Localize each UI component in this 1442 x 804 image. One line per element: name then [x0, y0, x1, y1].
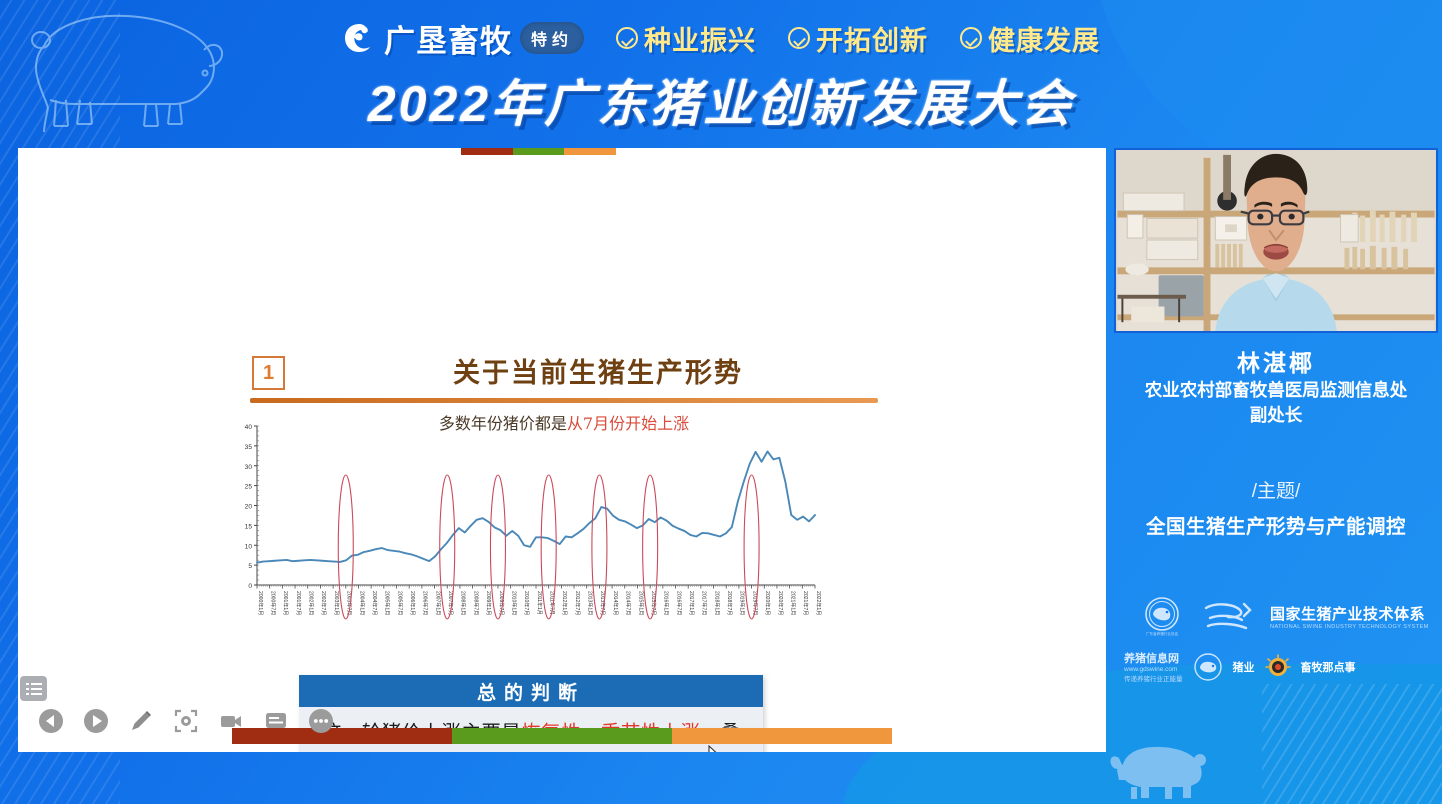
- pig-circle-icon: [1193, 652, 1223, 682]
- laser-pointer-button[interactable]: [173, 708, 199, 734]
- svg-text:2017年7月: 2017年7月: [701, 591, 708, 615]
- svg-text:2002年1月: 2002年1月: [308, 591, 315, 615]
- check-circle-icon: [960, 27, 982, 49]
- svg-text:2021年7月: 2021年7月: [802, 591, 809, 615]
- svg-text:2021年1月: 2021年1月: [789, 591, 796, 615]
- svg-text:2017年1月: 2017年1月: [688, 591, 695, 615]
- sponsor-badge: 特约: [520, 22, 584, 54]
- svg-text:40: 40: [245, 424, 253, 431]
- section-number: 1: [263, 362, 274, 385]
- title-underline-rule: [250, 398, 878, 403]
- gdswine-logo: 养猪信息网 www.gdswine.com 传递养猪行业正能量: [1124, 650, 1183, 683]
- speaker-name: 林湛椰: [1110, 344, 1442, 378]
- pencil-icon: [128, 708, 154, 734]
- play-button[interactable]: [83, 708, 109, 734]
- svg-text:35: 35: [245, 444, 253, 451]
- previous-icon: [38, 708, 64, 734]
- svg-text:2009年1月: 2009年1月: [485, 591, 492, 615]
- chart-canvas: 05101520253035402000年1月2000年7月2001年1月200…: [223, 420, 823, 645]
- annotate-button[interactable]: [128, 708, 154, 734]
- speaker-panel: 林湛椰 农业农村部畜牧兽医局监测信息处 副处长 /主题/ 全国生猪生产形势与产能…: [1110, 146, 1442, 754]
- speaker-topic: 全国生猪生产形势与产能调控: [1110, 510, 1442, 539]
- list-icon: [26, 682, 42, 696]
- svg-text:2022年1月: 2022年1月: [815, 591, 822, 615]
- brand-logo-group: 广垦畜牧 特约: [342, 16, 584, 61]
- svg-text:2004年1月: 2004年1月: [358, 591, 365, 615]
- webcam-video-frame: [1116, 150, 1436, 331]
- svg-text:30: 30: [245, 464, 253, 471]
- svg-text:2002年7月: 2002年7月: [320, 591, 327, 615]
- svg-text:2003年1月: 2003年1月: [333, 591, 340, 615]
- sponsor-main-en: NATIONAL SWINE INDUSTRY TECHNOLOGY SYSTE…: [1270, 624, 1429, 630]
- slide-section-title: 关于当前生猪生产形势: [318, 351, 878, 390]
- sponsor-row-1: 广东省养猪行业协会 国家生猪产业技术体系 NATIONAL SWINE INDU…: [1140, 594, 1434, 638]
- svg-text:2005年1月: 2005年1月: [384, 591, 391, 615]
- notes-icon: [263, 708, 289, 734]
- laser-icon: [173, 708, 199, 734]
- svg-text:2001年1月: 2001年1月: [282, 591, 289, 615]
- conclusion-heading: 总的判断: [299, 675, 763, 707]
- svg-text:2006年1月: 2006年1月: [409, 591, 416, 615]
- svg-text:2016年7月: 2016年7月: [675, 591, 682, 615]
- svg-text:2012年7月: 2012年7月: [574, 591, 581, 615]
- play-icon: [83, 708, 109, 734]
- svg-text:2012年1月: 2012年1月: [561, 591, 568, 615]
- brand-name: 广垦畜牧: [384, 16, 512, 61]
- slogan-2: 开拓创新: [788, 19, 928, 58]
- svg-text:2010年7月: 2010年7月: [523, 591, 530, 615]
- svg-text:2001年7月: 2001年7月: [295, 591, 302, 615]
- svg-text:25: 25: [245, 484, 253, 491]
- svg-text:10: 10: [245, 543, 253, 550]
- svg-text:2008年7月: 2008年7月: [472, 591, 479, 615]
- guangken-logo-icon: [342, 21, 376, 55]
- event-main-title: 2022年广东猪业创新发展大会: [0, 64, 1442, 136]
- svg-text:2011年1月: 2011年1月: [536, 591, 543, 615]
- header-brand-row: 广垦畜牧 特约 种业振兴 开拓创新 健康发展: [0, 16, 1442, 60]
- svg-text:2020年1月: 2020年1月: [764, 591, 771, 615]
- svg-text:2000年7月: 2000年7月: [269, 591, 276, 615]
- slogan-1: 种业振兴: [616, 19, 756, 58]
- svg-text:2014年7月: 2014年7月: [625, 591, 632, 615]
- speaker-org-line2: 副处长: [1110, 403, 1442, 428]
- assoc-caption: 广东省养猪行业协会: [1146, 631, 1179, 636]
- check-circle-icon: [788, 27, 810, 49]
- pig-price-line-chart: 05101520253035402000年1月2000年7月2001年1月200…: [223, 420, 823, 645]
- playlist-button[interactable]: [20, 676, 47, 701]
- svg-text:2006年7月: 2006年7月: [422, 591, 429, 615]
- topic-label: /主题/: [1110, 476, 1442, 503]
- previous-button[interactable]: [38, 708, 64, 734]
- presentation-slide[interactable]: 1 关于当前生猪生产形势 多数年份猪价都是从7月份开始上涨 0510152025…: [18, 148, 1106, 752]
- slogan-3-label: 健康发展: [988, 19, 1100, 58]
- event-header: 广垦畜牧 特约 种业振兴 开拓创新 健康发展 2022年广东猪业创新发展大会: [0, 0, 1442, 142]
- svg-text:2004年7月: 2004年7月: [371, 591, 378, 615]
- svg-text:2013年1月: 2013年1月: [587, 591, 594, 615]
- xumu-logo: 畜牧那点事: [1301, 659, 1356, 675]
- svg-text:15: 15: [245, 523, 253, 530]
- sponsor-main-cn: 国家生猪产业技术体系: [1270, 603, 1429, 624]
- svg-text:2014年1月: 2014年1月: [612, 591, 619, 615]
- sponsor-main-text: 国家生猪产业技术体系 NATIONAL SWINE INDUSTRY TECHN…: [1270, 603, 1429, 630]
- svg-text:2010年1月: 2010年1月: [510, 591, 517, 615]
- svg-text:2018年7月: 2018年7月: [726, 591, 733, 615]
- svg-text:2015年1月: 2015年1月: [637, 591, 644, 615]
- svg-text:2000年1月: 2000年1月: [257, 591, 264, 615]
- speaker-org-line1: 农业农村部畜牧兽医局监测信息处: [1110, 378, 1442, 403]
- slogan-1-label: 种业振兴: [644, 19, 756, 58]
- more-options-button[interactable]: [308, 708, 334, 734]
- svg-text:2018年1月: 2018年1月: [713, 591, 720, 615]
- swine-system-mark-icon: [1200, 598, 1254, 634]
- gdswine-name: 养猪信息网: [1124, 650, 1183, 666]
- guangdong-pig-association-icon: 广东省养猪行业协会: [1140, 594, 1184, 638]
- record-button[interactable]: [218, 708, 244, 734]
- slogan-2-label: 开拓创新: [816, 19, 928, 58]
- screen: 广垦畜牧 特约 种业振兴 开拓创新 健康发展 2022年广东猪业创新发展大会 1: [0, 0, 1442, 804]
- svg-text:2005年7月: 2005年7月: [396, 591, 403, 615]
- svg-text:5: 5: [248, 563, 252, 570]
- notes-button[interactable]: [263, 708, 289, 734]
- speaker-webcam[interactable]: [1114, 148, 1438, 333]
- speaker-organization: 农业农村部畜牧兽医局监测信息处 副处长: [1110, 378, 1442, 427]
- sponsor-row-2: 养猪信息网 www.gdswine.com 传递养猪行业正能量 猪业: [1124, 650, 1434, 683]
- slogan-3: 健康发展: [960, 19, 1100, 58]
- svg-text:20: 20: [245, 504, 253, 511]
- svg-text:2016年1月: 2016年1月: [663, 591, 670, 615]
- bulb-eye-icon: [1265, 654, 1291, 680]
- check-circle-icon: [616, 27, 638, 49]
- more-icon: [308, 708, 334, 734]
- zhuye-logo: 猪业: [1233, 659, 1255, 675]
- gdswine-url: www.gdswine.com: [1124, 666, 1183, 673]
- sponsor-logos: 广东省养猪行业协会 国家生猪产业技术体系 NATIONAL SWINE INDU…: [1124, 594, 1434, 704]
- svg-text:2020年7月: 2020年7月: [777, 591, 784, 615]
- svg-text:2008年1月: 2008年1月: [460, 591, 467, 615]
- svg-text:0: 0: [248, 583, 252, 590]
- section-number-box: 1: [252, 356, 285, 390]
- slide-top-color-bar: [461, 148, 616, 155]
- svg-text:2007年1月: 2007年1月: [434, 591, 441, 615]
- player-toolbar[interactable]: [38, 708, 334, 734]
- svg-text:2019年1月: 2019年1月: [739, 591, 746, 615]
- camera-icon: [218, 708, 244, 734]
- gdswine-tag: 传递养猪行业正能量: [1124, 673, 1183, 683]
